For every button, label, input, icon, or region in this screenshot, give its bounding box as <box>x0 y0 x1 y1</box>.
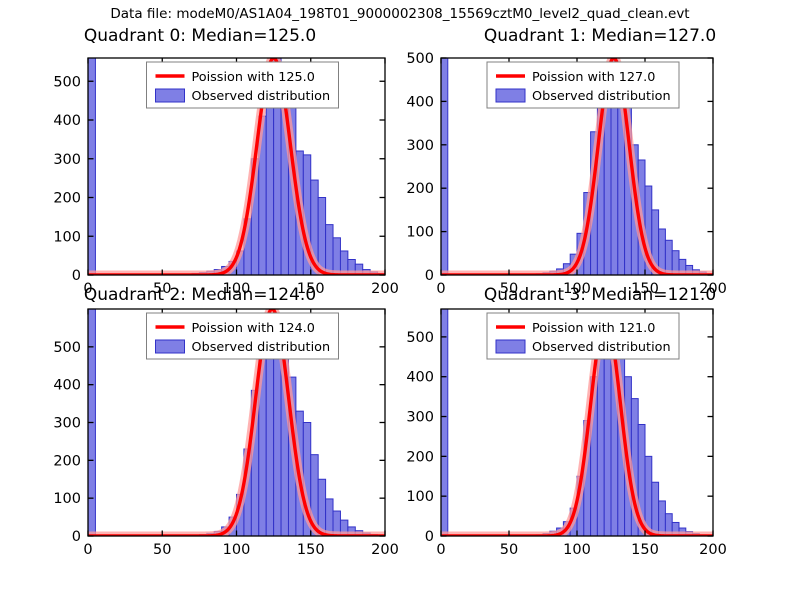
legend-label-poisson: Poission with 125.0 <box>192 70 315 85</box>
y-tick-label: 100 <box>406 489 434 505</box>
y-tick-label: 300 <box>406 410 434 426</box>
y-tick-label: 0 <box>425 529 434 545</box>
y-tick-label: 200 <box>53 453 81 469</box>
legend-label-observed: Observed distribution <box>532 340 671 355</box>
x-tick-label: 0 <box>83 542 92 558</box>
y-tick-label: 0 <box>425 268 434 284</box>
y-tick-label: 300 <box>406 138 434 154</box>
legend-label-poisson: Poission with 121.0 <box>532 321 655 336</box>
legend: Poission with 124.0Observed distribution <box>147 313 339 359</box>
x-tick-label: 200 <box>699 542 727 558</box>
x-tick-label: 200 <box>371 542 399 558</box>
y-tick-label: 400 <box>53 113 81 129</box>
x-tick-label: 150 <box>297 542 325 558</box>
histogram-bar <box>333 238 340 275</box>
y-tick-label: 0 <box>72 268 81 284</box>
y-tick-label: 200 <box>406 181 434 197</box>
y-tick-label: 200 <box>53 191 81 207</box>
y-tick-label: 500 <box>406 51 434 67</box>
histogram-bar <box>266 330 273 536</box>
figure-title: Data file: modeM0/AS1A04_198T01_90000023… <box>0 6 800 22</box>
histogram-bar <box>266 82 273 275</box>
x-tick-label: 0 <box>436 542 445 558</box>
legend-patch-swatch <box>156 340 185 353</box>
histogram-bar <box>441 32 448 275</box>
legend-patch-swatch <box>156 89 185 102</box>
plot-area-quadrant-2: 0501001502000100200300400500Poission wit… <box>0 285 400 560</box>
legend-label-observed: Observed distribution <box>532 89 671 104</box>
y-tick-label: 300 <box>53 152 81 168</box>
x-tick-label: 150 <box>631 542 659 558</box>
histogram-bar <box>652 482 659 536</box>
legend-label-observed: Observed distribution <box>192 89 331 104</box>
y-tick-label: 500 <box>53 74 81 90</box>
y-tick-label: 100 <box>406 225 434 241</box>
x-tick-label: 100 <box>223 542 251 558</box>
x-tick-label: 50 <box>153 542 171 558</box>
histogram-bar <box>441 285 448 536</box>
histogram-bar <box>326 225 333 275</box>
legend-patch-swatch <box>496 89 525 102</box>
y-tick-label: 100 <box>53 491 81 507</box>
legend: Poission with 127.0Observed distribution <box>487 62 679 108</box>
y-tick-label: 500 <box>406 330 434 346</box>
legend-label-poisson: Poission with 127.0 <box>532 70 655 85</box>
matplotlib-figure: Data file: modeM0/AS1A04_198T01_90000023… <box>0 0 800 600</box>
x-tick-label: 50 <box>500 542 518 558</box>
y-tick-label: 400 <box>406 370 434 386</box>
y-tick-label: 300 <box>53 416 81 432</box>
legend-patch-swatch <box>496 340 525 353</box>
y-tick-label: 500 <box>53 340 81 356</box>
histogram-bar <box>665 240 672 275</box>
plot-area-quadrant-1: 0501001502000100200300400500Poission wit… <box>400 26 800 294</box>
x-tick-label: 100 <box>563 542 591 558</box>
legend-label-poisson: Poission with 124.0 <box>192 321 315 336</box>
y-tick-label: 100 <box>53 229 81 245</box>
histogram-bar <box>318 198 325 276</box>
histogram-bar <box>88 35 95 275</box>
legend: Poission with 121.0Observed distribution <box>487 313 679 359</box>
plot-area-quadrant-3: 0501001502000100200300400500Poission wit… <box>400 285 800 560</box>
histogram-bar <box>597 355 604 536</box>
y-tick-label: 200 <box>406 449 434 465</box>
legend-label-observed: Observed distribution <box>192 340 331 355</box>
plot-area-quadrant-0: 0501001502000100200300400500Poission wit… <box>0 26 400 294</box>
y-tick-label: 400 <box>406 94 434 110</box>
y-tick-label: 400 <box>53 378 81 394</box>
histogram-bar <box>659 501 666 536</box>
legend: Poission with 125.0Observed distribution <box>147 62 339 108</box>
y-tick-label: 0 <box>72 529 81 545</box>
